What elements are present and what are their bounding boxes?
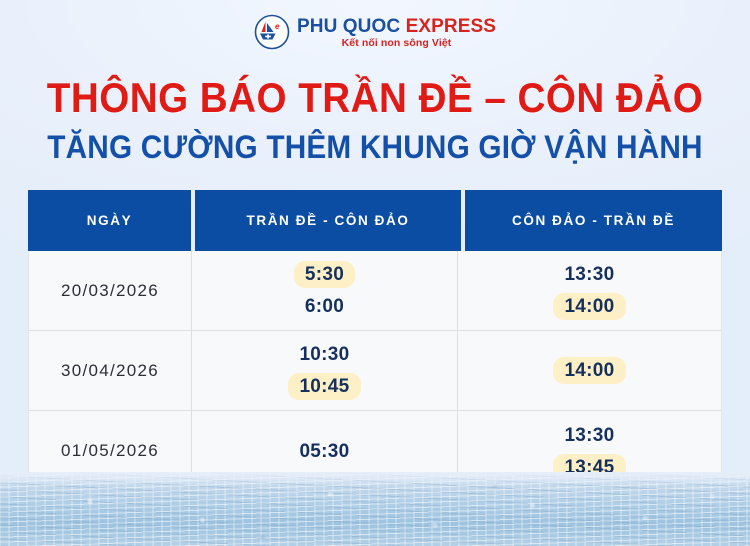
column-header-outbound: TRẦN ĐỀ - CÔN ĐẢO: [195, 190, 461, 251]
cell-outbound-times: 10:3010:45: [192, 331, 458, 410]
schedule-table: NGÀY TRẦN ĐỀ - CÔN ĐẢO CÔN ĐẢO - TRẦN ĐỀ…: [28, 190, 722, 492]
time-label: 10:30: [288, 341, 360, 368]
time-badge-highlighted: 14:00: [553, 357, 625, 384]
cell-date: 20/03/2026: [29, 251, 192, 330]
time-badge-highlighted: 5:30: [294, 261, 355, 288]
page-title: THÔNG BÁO TRẦN ĐỀ – CÔN ĐẢO: [30, 74, 720, 122]
page-subtitle: TĂNG CƯỜNG THÊM KHUNG GIỜ VẬN HÀNH: [26, 129, 724, 166]
sea-background: [0, 472, 750, 546]
cell-inbound-times: 13:3014:00: [458, 251, 721, 330]
cell-outbound-times: 5:306:00: [192, 251, 458, 330]
time-badge-highlighted: 10:45: [288, 373, 360, 400]
cell-date: 30/04/2026: [29, 331, 192, 410]
brand-name-primary: PHU QUOC: [297, 16, 400, 37]
time-label: 13:30: [553, 422, 625, 449]
table-row: 30/04/202610:3010:4514:00: [29, 331, 721, 411]
time-label: 05:30: [288, 438, 360, 465]
time-label: 6:00: [294, 293, 355, 320]
time-badge-highlighted: 14:00: [553, 293, 625, 320]
cell-inbound-times: 14:00: [458, 331, 721, 410]
brand-tagline: Kết nối non sông Việt: [297, 37, 496, 49]
table-body: 20/03/20265:306:0013:3014:0030/04/202610…: [28, 251, 722, 492]
time-label: 13:30: [553, 261, 625, 288]
brand-name-secondary: EXPRESS: [406, 16, 496, 37]
brand-name: PHU QUOC EXPRESS: [297, 17, 496, 37]
svg-text:e: e: [275, 22, 280, 31]
column-header-inbound: CÔN ĐẢO - TRẦN ĐỀ: [465, 190, 722, 251]
sailboat-circle-logo-icon: e: [254, 14, 290, 50]
brand-header: e PHU QUOC EXPRESS Kết nối non sông Việt: [0, 14, 750, 50]
column-header-date: NGÀY: [28, 190, 191, 251]
sea-fade-overlay: [0, 472, 750, 486]
table-header-row: NGÀY TRẦN ĐỀ - CÔN ĐẢO CÔN ĐẢO - TRẦN ĐỀ: [28, 190, 722, 251]
table-row: 20/03/20265:306:0013:3014:00: [29, 251, 721, 331]
announcement-poster: e PHU QUOC EXPRESS Kết nối non sông Việt…: [0, 0, 750, 546]
